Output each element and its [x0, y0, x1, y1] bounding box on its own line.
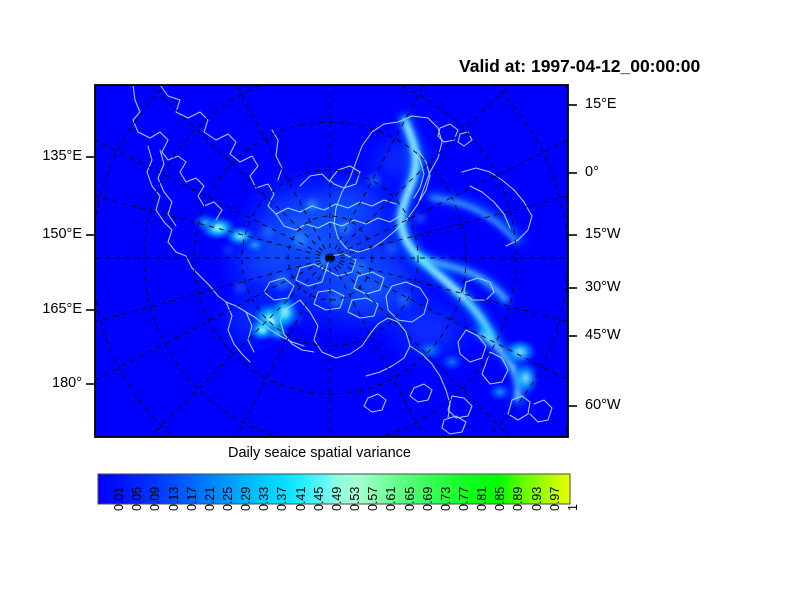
right-axis-label: 0° — [585, 164, 599, 180]
colorbar-tick-label: 0.69 — [421, 487, 435, 511]
figure-canvas — [0, 0, 792, 612]
colorbar-tick-label: 1 — [566, 504, 580, 511]
colorbar-tick-label: 0.13 — [167, 487, 181, 511]
colorbar-tick-label: 0.41 — [294, 487, 308, 511]
colorbar-tick-label: 0.25 — [221, 487, 235, 511]
right-axis-label: 15°E — [585, 96, 617, 112]
colorbar-tick-label: 0.81 — [475, 487, 489, 511]
left-axis-label: 180° — [0, 375, 82, 391]
caption: Daily seaice spatial variance — [228, 445, 411, 461]
colorbar-tick-label: 0.09 — [148, 487, 162, 511]
left-axis-label: 150°E — [0, 226, 82, 242]
colorbar-tick-label: 0.61 — [384, 487, 398, 511]
colorbar-tick-label: 0.29 — [239, 487, 253, 511]
colorbar-tick-label: 0.05 — [130, 487, 144, 511]
right-axis-label: 30°W — [585, 279, 621, 295]
colorbar-tick-label: 0.89 — [511, 487, 525, 511]
colorbar-tick-label: 0.45 — [312, 487, 326, 511]
colorbar-tick-label: 0.85 — [493, 487, 507, 511]
right-axis-label: 45°W — [585, 327, 621, 343]
colorbar-tick-label: 0.97 — [548, 487, 562, 511]
colorbar-tick-label: 0.49 — [330, 487, 344, 511]
colorbar-tick-label: 0.65 — [403, 487, 417, 511]
right-axis-label: 60°W — [585, 397, 621, 413]
colorbar-tick-label: 0.77 — [457, 487, 471, 511]
colorbar-tick-label: 0.37 — [275, 487, 289, 511]
page-title: Valid at: 1997-04-12_00:00:00 — [459, 56, 700, 77]
colorbar-tick-label: 0.57 — [366, 487, 380, 511]
colorbar-tick-label: 0.01 — [112, 487, 126, 511]
colorbar-tick-label: 0.17 — [185, 487, 199, 511]
colorbar-tick-label: 0.53 — [348, 487, 362, 511]
right-axis-label: 15°W — [585, 226, 621, 242]
colorbar-tick-label: 0.21 — [203, 487, 217, 511]
left-axis-label: 135°E — [0, 148, 82, 164]
colorbar-tick-label: 0.73 — [439, 487, 453, 511]
left-axis-label: 165°E — [0, 301, 82, 317]
colorbar-tick-label: 0.93 — [530, 487, 544, 511]
colorbar-tick-label: 0.33 — [257, 487, 271, 511]
